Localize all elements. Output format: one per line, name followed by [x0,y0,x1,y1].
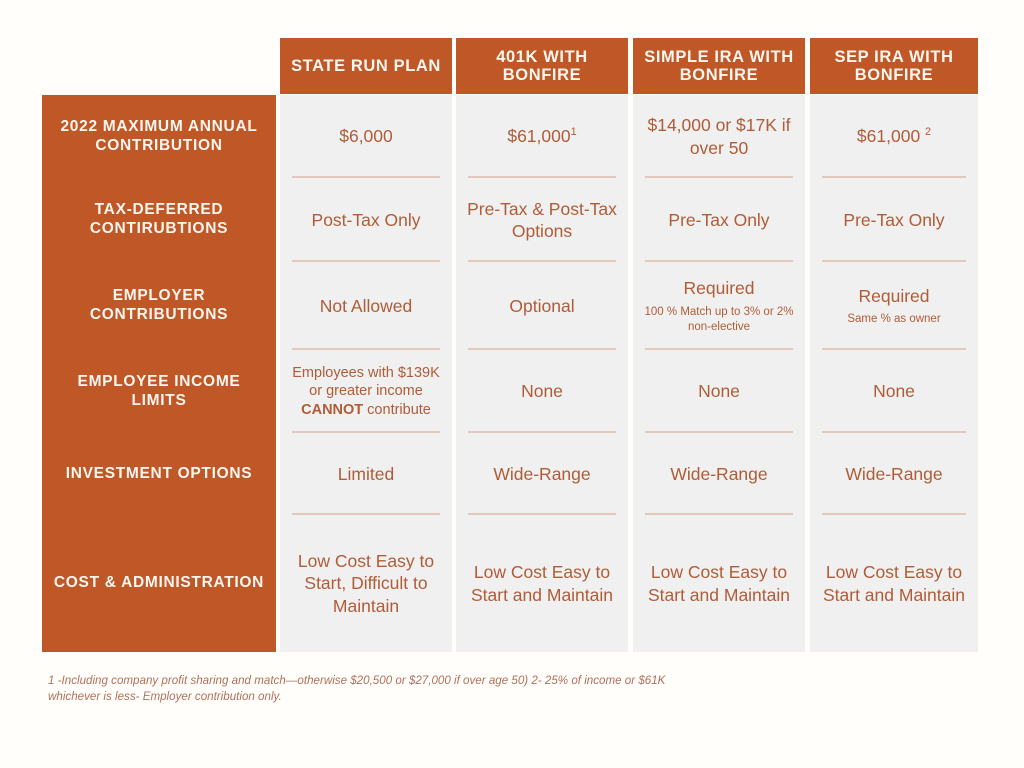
data-column-state-run-plan: $6,000 Post-Tax Only Not Allowed Employe… [280,95,452,652]
column-header-label: SIMPLE IRA WITH BONFIRE [639,48,799,85]
table-cell: None [810,350,978,433]
column-header-label: STATE RUN PLAN [291,57,441,75]
data-column-simple-ira-with-bonfire: $14,000 or $17K if over 50 Pre-Tax Only … [633,95,805,652]
row-label-employee-income-limits: EMPLOYEE INCOME LIMITS [42,350,276,433]
cell-main-text: Optional [509,295,574,317]
column-header-sep-ira-with-bonfire: SEP IRA WITH BONFIRE [810,38,978,94]
table-cell: $14,000 or $17K if over 50 [633,95,805,178]
cell-main-text: Not Allowed [320,295,412,317]
table-cell: Low Cost Easy to Start and Maintain [810,515,978,652]
row-label-investment-options: INVESTMENT OPTIONS [42,433,276,515]
row-label-tax-deferred-contributions: TAX-DEFERRED CONTIRUBTIONS [42,178,276,262]
row-label-column: 2022 MAXIMUM ANNUAL CONTRIBUTION TAX-DEF… [42,95,276,652]
column-header-401k-with-bonfire: 401K WITH BONFIRE [456,38,628,94]
cell-main-text: None [698,380,740,402]
row-label-text: EMPLOYEE INCOME LIMITS [52,373,266,411]
table-cell: $61,000 2 [810,95,978,178]
column-header-label: SEP IRA WITH BONFIRE [816,48,972,85]
cell-main-text: Wide-Range [670,463,767,485]
table-cell: Wide-Range [810,433,978,515]
column-header-simple-ira-with-bonfire: SIMPLE IRA WITH BONFIRE [633,38,805,94]
cell-main-text: Low Cost Easy to Start, Difficult to Mai… [288,550,444,617]
cell-main-text: Pre-Tax Only [668,209,769,231]
cell-main-text: Wide-Range [845,463,942,485]
cell-main-text: Pre-Tax Only [843,209,944,231]
table-cell: Wide-Range [633,433,805,515]
footnote-text: 1 -Including company profit sharing and … [48,673,693,706]
cell-main-text: Limited [338,463,394,485]
cell-main-text: Low Cost Easy to Start and Maintain [464,561,620,606]
cell-main-text: $6,000 [339,125,393,147]
row-label-text: 2022 MAXIMUM ANNUAL CONTRIBUTION [52,118,266,156]
row-label-text: COST & ADMINISTRATION [54,574,264,593]
table-cell: Low Cost Easy to Start and Maintain [456,515,628,652]
cell-main-text: $61,0001 [507,125,576,147]
cell-main-text: Pre-Tax & Post-Tax Options [464,198,620,243]
table-cell: Optional [456,262,628,350]
row-label-cost-and-administration: COST & ADMINISTRATION [42,515,276,652]
column-header-state-run-plan: STATE RUN PLAN [280,38,452,94]
cell-sub-text: 100 % Match up to 3% or 2% non-elective [641,305,797,335]
table-cell: Required 100 % Match up to 3% or 2% non-… [633,262,805,350]
table-cell: Pre-Tax Only [633,178,805,262]
table-cell: $61,0001 [456,95,628,178]
cell-main-text: Wide-Range [493,463,590,485]
table-cell: Not Allowed [280,262,452,350]
table-cell: Required Same % as owner [810,262,978,350]
cell-main-text: Low Cost Easy to Start and Maintain [818,561,970,606]
data-column-401k-with-bonfire: $61,0001 Pre-Tax & Post-Tax Options Opti… [456,95,628,652]
table-cell: Limited [280,433,452,515]
table-cell: $6,000 [280,95,452,178]
data-column-sep-ira-with-bonfire: $61,000 2 Pre-Tax Only Required Same % a… [810,95,978,652]
table-cell: Low Cost Easy to Start and Maintain [633,515,805,652]
row-label-maximum-annual-contribution: 2022 MAXIMUM ANNUAL CONTRIBUTION [42,95,276,178]
cell-main-text: Employees with $139K or greater income C… [288,364,444,420]
table-cell: Post-Tax Only [280,178,452,262]
table-cell: Pre-Tax Only [810,178,978,262]
table-cell: None [456,350,628,433]
row-label-text: TAX-DEFERRED CONTIRUBTIONS [52,201,266,239]
cell-main-text: None [873,380,915,402]
cell-main-text: Required [683,277,754,299]
row-label-employer-contributions: EMPLOYER CONTRIBUTIONS [42,262,276,350]
cell-main-text: Post-Tax Only [312,209,421,231]
cell-main-text: $61,000 2 [857,125,931,147]
row-label-text: INVESTMENT OPTIONS [66,465,253,484]
row-label-text: EMPLOYER CONTRIBUTIONS [52,287,266,325]
cell-main-text: Required [858,285,929,307]
table-cell: Pre-Tax & Post-Tax Options [456,178,628,262]
cell-main-text: Low Cost Easy to Start and Maintain [641,561,797,606]
cell-main-text: $14,000 or $17K if over 50 [641,114,797,159]
footnote-marker: 2 [925,126,931,138]
table-cell: Employees with $139K or greater income C… [280,350,452,433]
cell-sub-text: Same % as owner [847,312,940,327]
table-cell: Wide-Range [456,433,628,515]
cell-main-text: None [521,380,563,402]
column-header-label: 401K WITH BONFIRE [462,48,622,85]
cell-emphasis-text: CANNOT [301,402,363,418]
footnote-marker: 1 [571,126,577,138]
table-cell: Low Cost Easy to Start, Difficult to Mai… [280,515,452,652]
retirement-plan-comparison-table: STATE RUN PLAN 401K WITH BONFIRE SIMPLE … [0,0,1024,768]
table-cell: None [633,350,805,433]
